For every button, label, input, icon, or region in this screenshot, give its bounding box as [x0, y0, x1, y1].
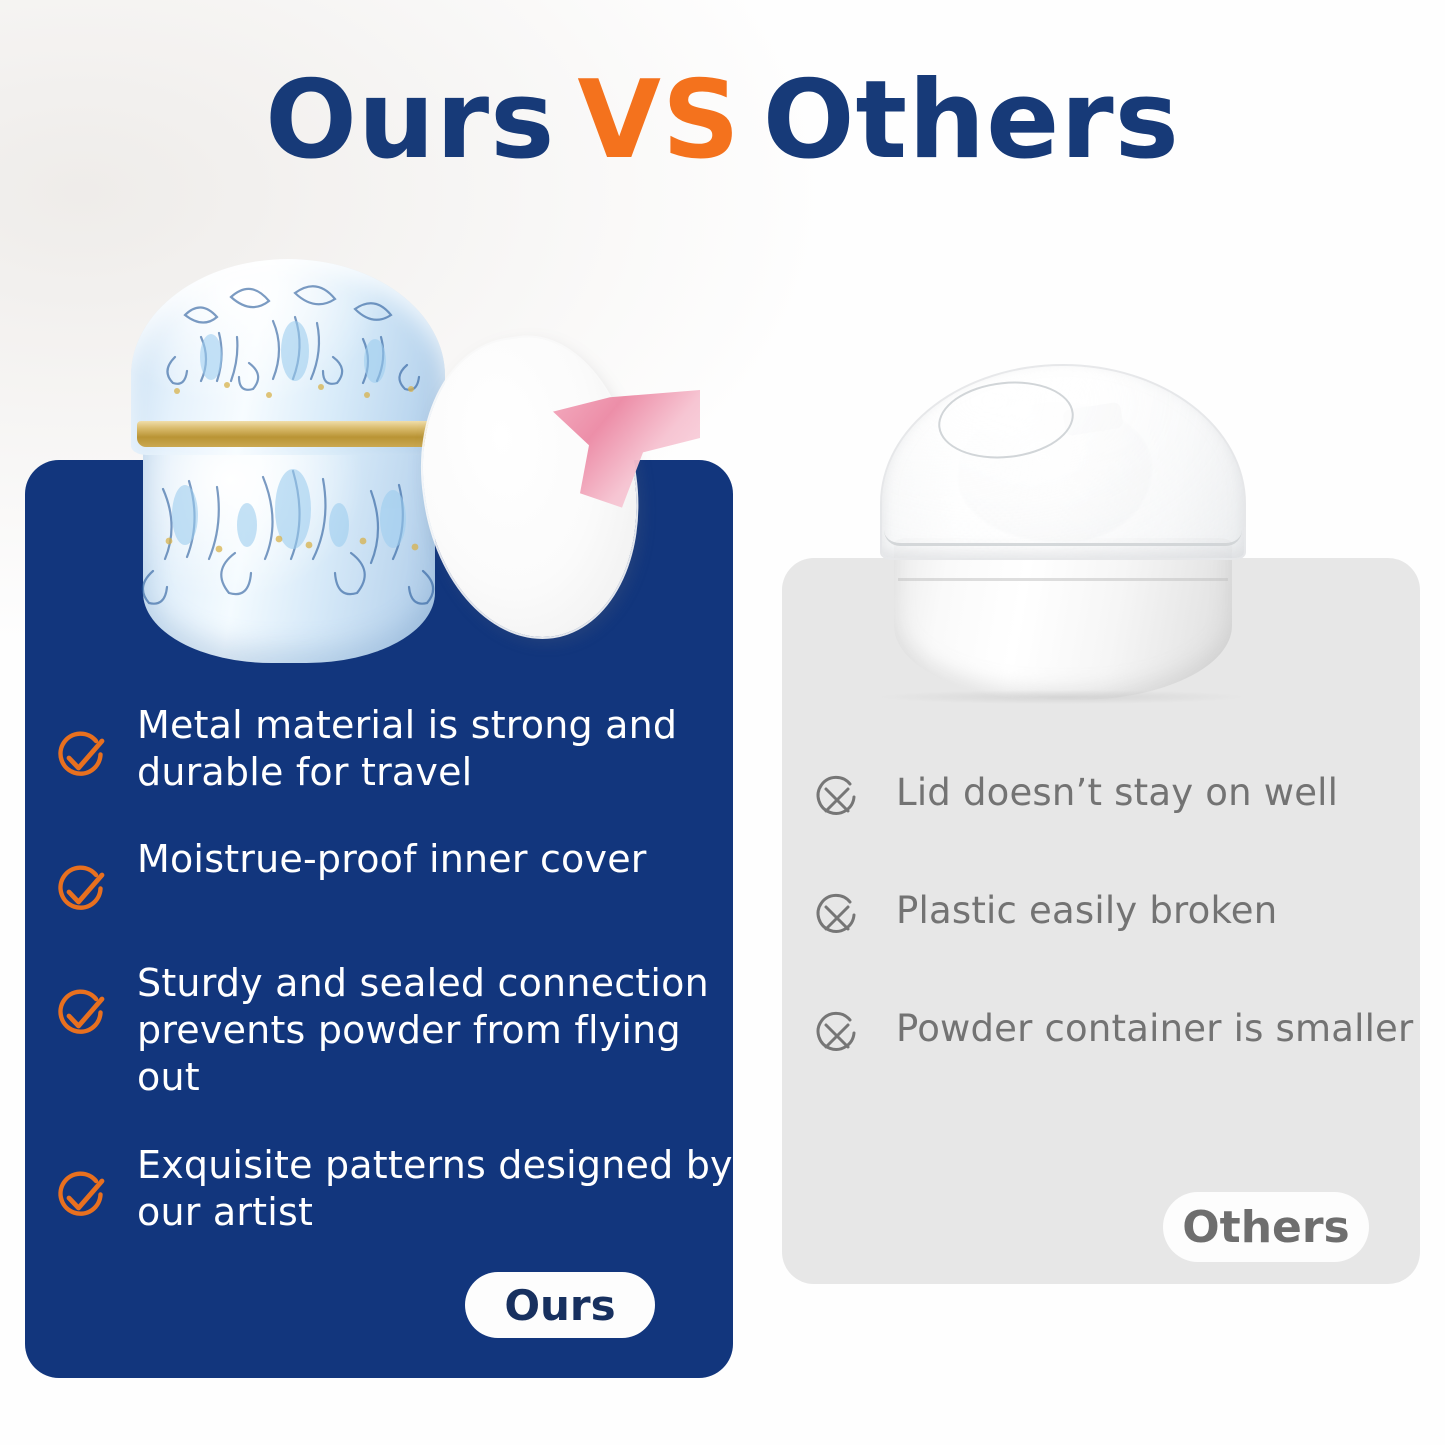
- list-item-label: Exquisite patterns designed by our artis…: [137, 1142, 737, 1236]
- list-item: Metal material is strong and durable for…: [52, 702, 752, 796]
- title-vs-text: VS: [577, 58, 740, 183]
- ours-badge: Ours: [465, 1272, 655, 1338]
- plastic-base-ring: [898, 578, 1228, 581]
- others-badge-label: Others: [1182, 1202, 1350, 1253]
- tin-body: [143, 428, 435, 663]
- list-item: Plastic easily broken: [808, 888, 1428, 946]
- title-ours-text: Ours: [265, 58, 555, 183]
- plastic-base: [894, 538, 1232, 700]
- list-item: Exquisite patterns designed by our artis…: [52, 1142, 752, 1236]
- check-circle-icon: [52, 986, 110, 1044]
- ours-feature-list: Metal material is strong and durable for…: [52, 702, 752, 1236]
- plastic-drop-shadow: [882, 690, 1242, 704]
- list-item-label: Lid doesn’t stay on well: [896, 770, 1338, 816]
- others-badge: Others: [1163, 1192, 1369, 1262]
- check-circle-icon: [52, 1168, 110, 1226]
- list-item-label: Metal material is strong and durable for…: [137, 702, 737, 796]
- check-circle-icon: [52, 862, 110, 920]
- others-drawback-list: Lid doesn’t stay on well Plastic easily …: [808, 770, 1428, 1064]
- list-item-label: Moistrue-proof inner cover: [137, 836, 647, 883]
- page-title: OursVSOthers: [0, 58, 1445, 183]
- plastic-dome-rim: [884, 520, 1242, 546]
- list-item: Powder container is smaller: [808, 1006, 1428, 1064]
- list-item-label: Powder container is smaller: [896, 1006, 1413, 1052]
- title-others-text: Others: [763, 58, 1180, 183]
- infographic-canvas: OursVSOthers: [0, 0, 1445, 1445]
- tin-gold-band: [137, 421, 439, 447]
- x-circle-icon: [810, 1010, 864, 1064]
- ours-powder-puff-image: [425, 330, 695, 648]
- ours-product-image: [123, 253, 453, 665]
- list-item-label: Sturdy and sealed connection prevents po…: [137, 960, 737, 1101]
- others-product-image: [862, 360, 1262, 700]
- list-item-label: Plastic easily broken: [896, 888, 1277, 934]
- list-item: Moistrue-proof inner cover: [52, 836, 752, 920]
- x-circle-icon: [810, 774, 864, 828]
- ours-badge-label: Ours: [504, 1281, 615, 1330]
- list-item: Sturdy and sealed connection prevents po…: [52, 960, 752, 1101]
- check-circle-icon: [52, 728, 110, 786]
- x-circle-icon: [810, 892, 864, 946]
- list-item: Lid doesn’t stay on well: [808, 770, 1428, 828]
